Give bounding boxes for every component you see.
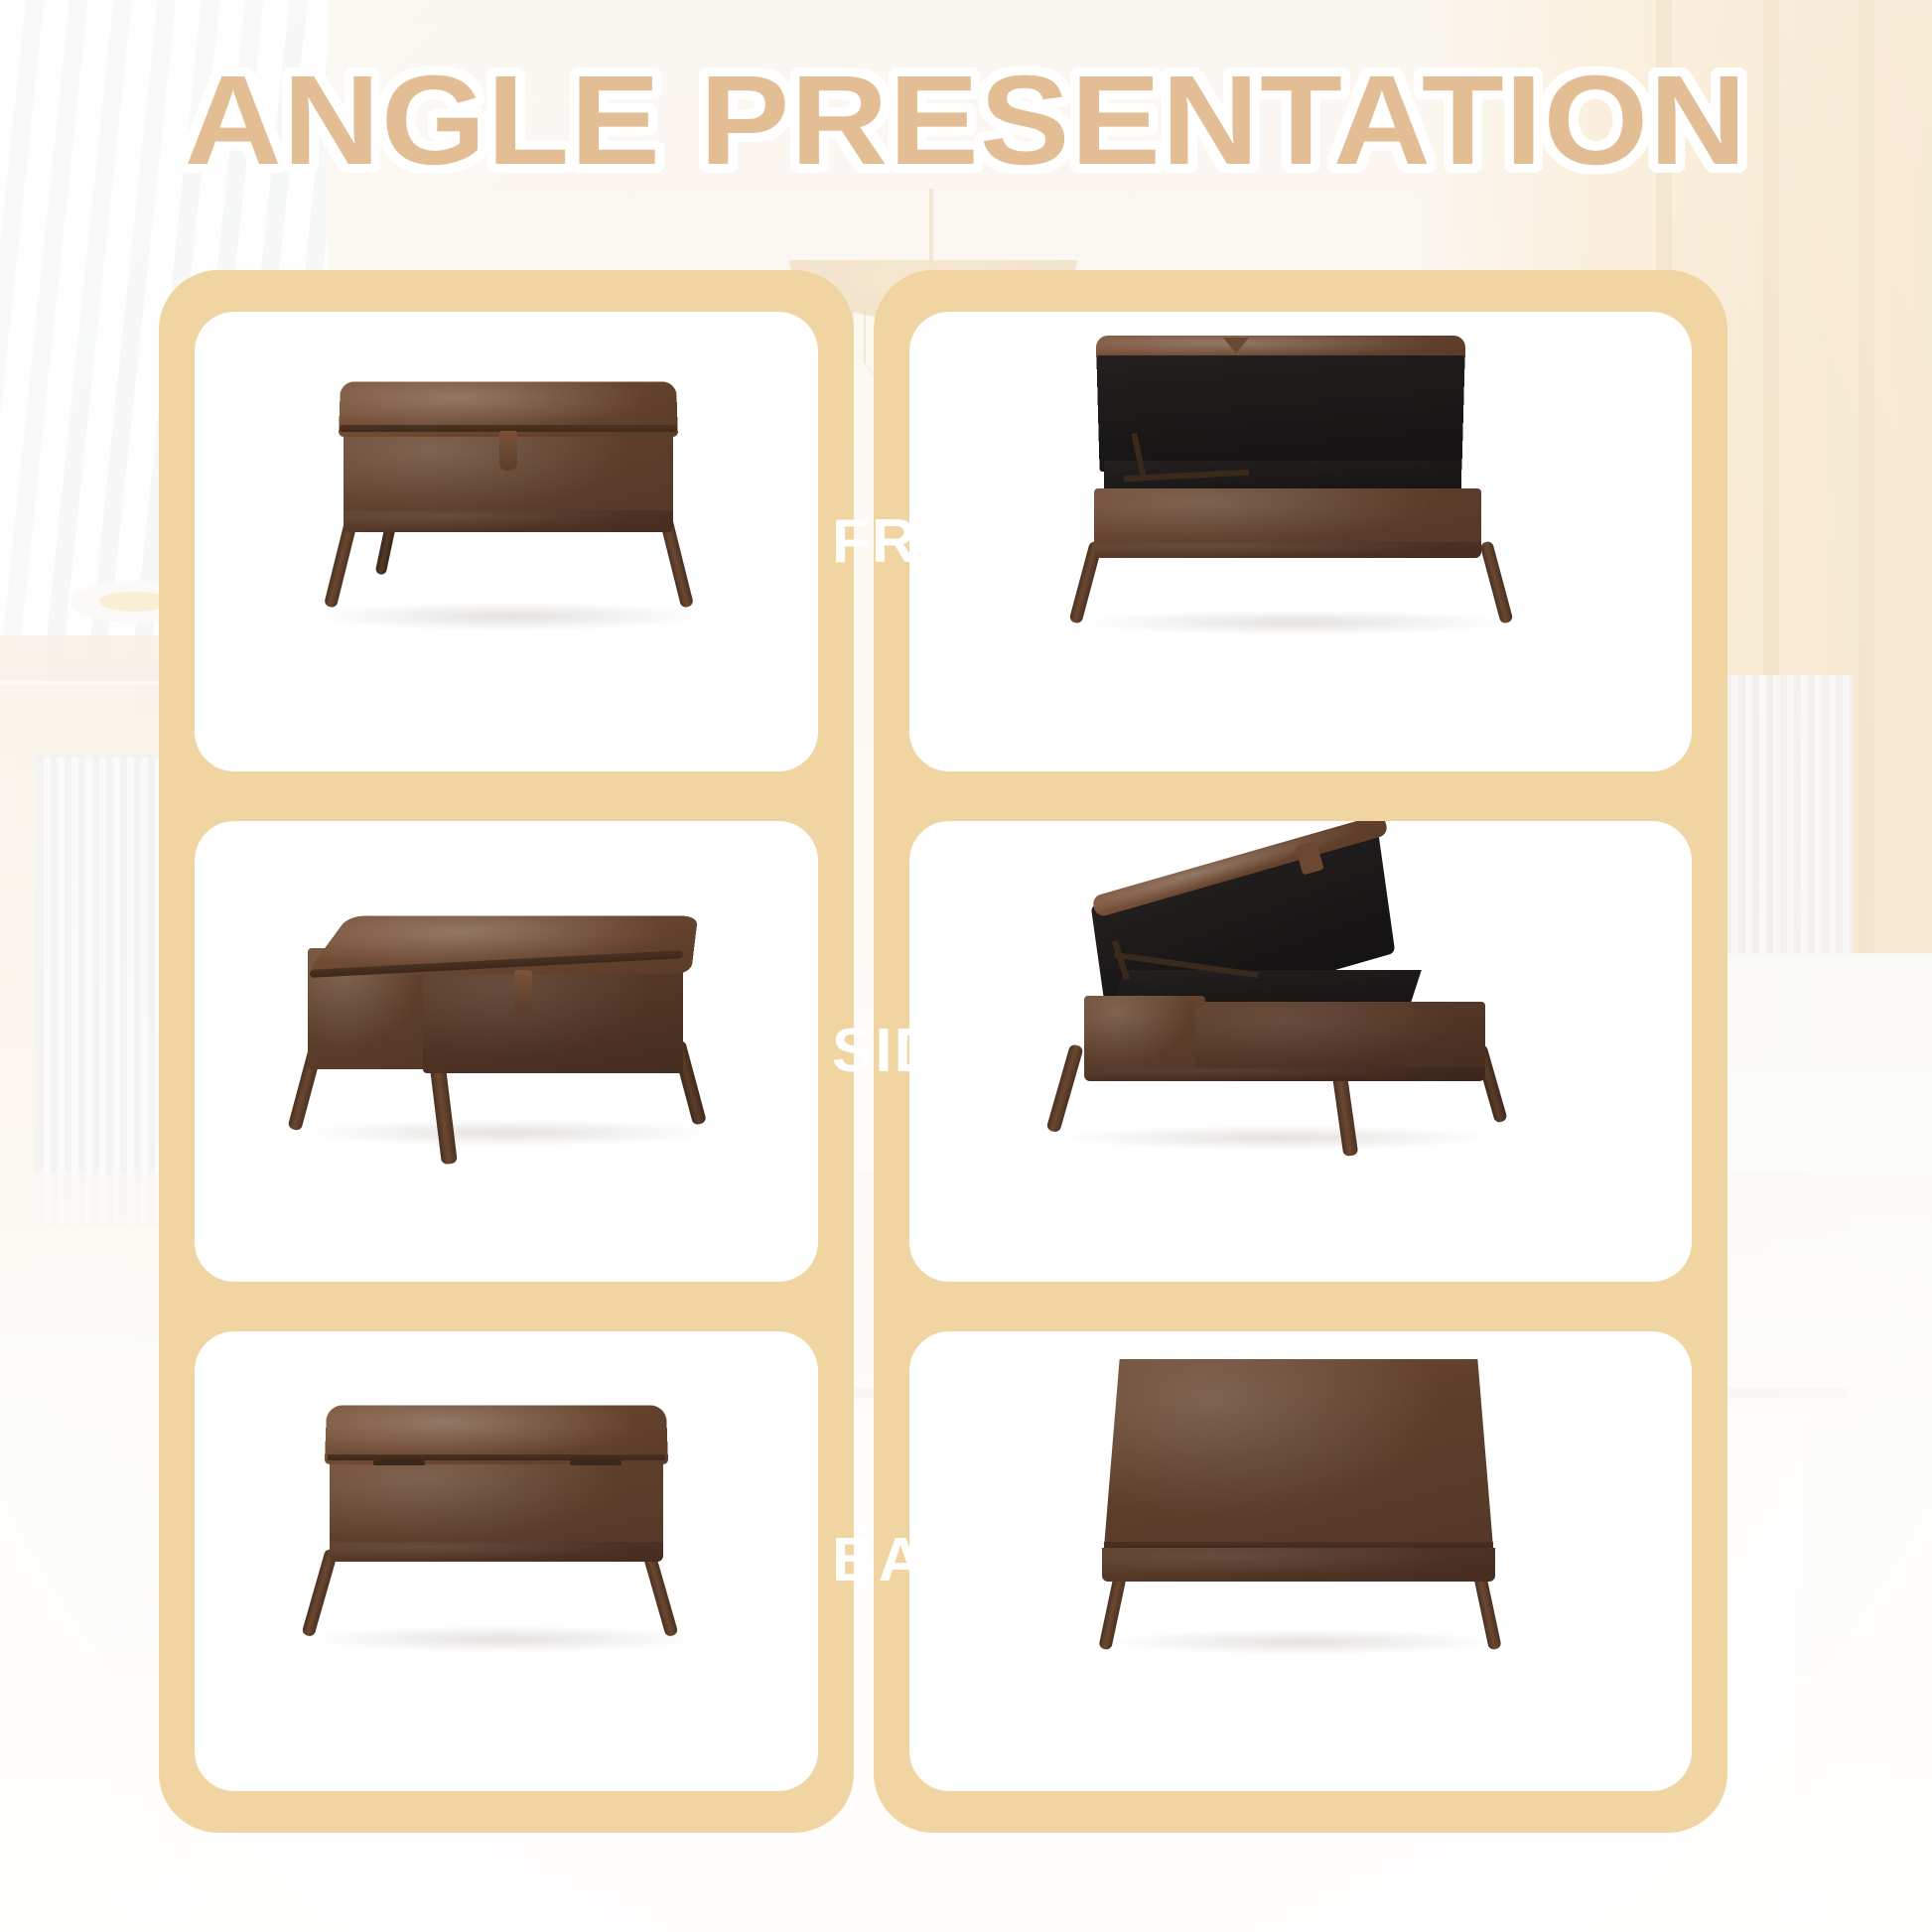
page-title: ANGLE PRESENTATION (0, 48, 1932, 194)
lid-pull-tab (499, 431, 517, 471)
card-front-closed[interactable] (195, 312, 818, 771)
view-label-side: SIDE (832, 1016, 975, 1086)
ottoman-body-side-left (1084, 996, 1205, 1077)
leg-front-right (1479, 540, 1513, 624)
open-lid-inner-lining (1096, 355, 1464, 472)
floor-shadow (1104, 1629, 1501, 1655)
ottoman-body-base-rail (1084, 1067, 1485, 1081)
hinge-left (373, 1460, 425, 1465)
hinge-right (570, 1460, 621, 1465)
floor-shadow (306, 1625, 703, 1653)
ottoman-body-base-rail (1102, 1548, 1495, 1582)
ottoman-back-panel (1104, 1359, 1493, 1548)
card-side-closed[interactable] (195, 821, 818, 1281)
lid-pull-tab (514, 970, 532, 1012)
ottoman-body-side-front (1195, 1002, 1485, 1077)
floor-shadow (1058, 1125, 1495, 1151)
view-label-back: BACK (832, 1525, 975, 1595)
ottoman-body-base-rail (1094, 542, 1481, 558)
leg-front-right (429, 1058, 458, 1165)
ottoman-body-side-front (423, 958, 683, 1073)
infographic-canvas: ANGLE PRESENTATION (0, 0, 1932, 1932)
leg-front-left (1045, 1043, 1083, 1133)
ottoman-body-base-rail (344, 510, 673, 532)
floor-shadow (1078, 610, 1515, 635)
card-back-plain[interactable] (909, 1331, 1692, 1791)
lid-seam (328, 1454, 665, 1460)
card-side-open[interactable] (909, 821, 1692, 1281)
card-back-closed[interactable] (195, 1331, 818, 1791)
view-label-front: FRONT (832, 506, 975, 577)
floor-shadow (312, 602, 709, 631)
ottoman-body-base-rail (330, 1542, 663, 1562)
floor-shadow (300, 1119, 717, 1147)
